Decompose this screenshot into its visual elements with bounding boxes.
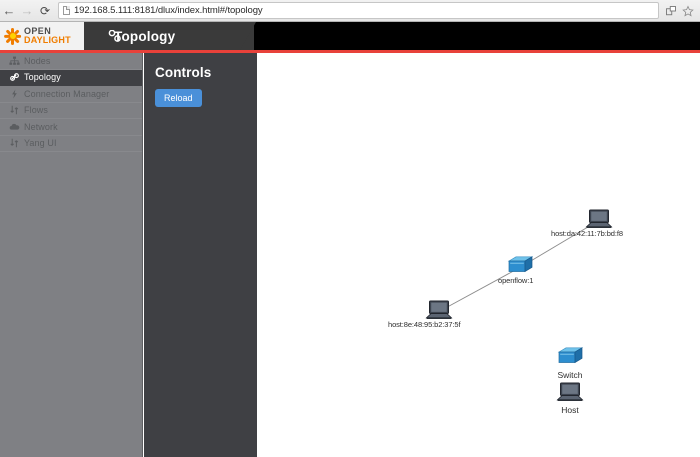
- topology-node-label: host:8e:48:95:b2:37:5f: [388, 320, 460, 329]
- back-arrow-icon[interactable]: ←: [0, 2, 18, 20]
- page-title: Topology: [114, 29, 175, 44]
- topology-node-label: host:da:42:11:7b:bd:f8: [551, 229, 623, 238]
- controls-heading: Controls: [144, 53, 257, 80]
- legend-label-switch: Switch: [540, 370, 600, 380]
- topology-icon: [108, 30, 122, 42]
- reload-button[interactable]: Reload: [155, 89, 202, 107]
- forward-arrow-icon[interactable]: →: [18, 2, 36, 20]
- star-icon[interactable]: [682, 5, 694, 17]
- sidebar-item-label: Topology: [24, 72, 61, 82]
- url-text: 192.168.5.111:8181/dlux/index.html#/topo…: [74, 5, 263, 16]
- legend-host-icon-wrap: [556, 382, 584, 407]
- controls-panel: Controls Reload: [144, 53, 257, 457]
- topology-canvas[interactable]: host:da:42:11:7b:bd:f8 openflow:1 host:8…: [257, 53, 700, 457]
- host-icon: [425, 300, 453, 320]
- title-shear-decoration: [240, 22, 256, 50]
- sidebar-item-topology[interactable]: Topology: [0, 70, 142, 87]
- sidebar-item-label: Flows: [24, 105, 48, 115]
- cloud-icon: [9, 122, 20, 132]
- daylight-sunburst-icon: [4, 28, 21, 45]
- page-document-icon: [63, 6, 70, 15]
- sidebar-item-label: Connection Manager: [24, 89, 109, 99]
- flow-arrow-icon: [9, 105, 20, 115]
- host-icon: [556, 382, 584, 402]
- legend-switch-icon-wrap: [556, 347, 583, 371]
- sidebar-nav: Nodes Topology Connection Manager Flows: [0, 53, 143, 457]
- url-bar[interactable]: 192.168.5.111:8181/dlux/index.html#/topo…: [58, 2, 659, 19]
- sidebar-item-label: Nodes: [24, 56, 51, 66]
- legend-label-host: Host: [540, 405, 600, 415]
- reload-icon[interactable]: ⟳: [36, 2, 54, 20]
- switch-icon: [506, 256, 533, 275]
- sidebar-item-flows[interactable]: Flows: [0, 103, 142, 120]
- sitemap-icon: [9, 56, 20, 66]
- sidebar-item-label: Network: [24, 122, 58, 132]
- flow-arrow-icon: [9, 138, 20, 148]
- sidebar-item-label: Yang UI: [24, 138, 57, 148]
- extension-icon[interactable]: [665, 5, 677, 17]
- browser-chrome: ← → ⟳ 192.168.5.111:8181/dlux/index.html…: [0, 0, 700, 22]
- app-header: OPEN DAYLIGHT Topology: [0, 22, 700, 50]
- host-icon: [585, 209, 613, 229]
- link-icon: [9, 72, 20, 82]
- logo-text-daylight: DAYLIGHT: [24, 36, 71, 45]
- bolt-icon: [9, 89, 20, 99]
- sidebar-item-connection-manager[interactable]: Connection Manager: [0, 86, 142, 103]
- sidebar-item-nodes[interactable]: Nodes: [0, 53, 142, 70]
- sidebar-item-yang-ui[interactable]: Yang UI: [0, 136, 142, 153]
- topology-node-label: openflow:1: [498, 276, 533, 285]
- opendaylight-logo[interactable]: OPEN DAYLIGHT: [0, 22, 84, 50]
- sidebar-item-network[interactable]: Network: [0, 119, 142, 136]
- switch-icon: [556, 347, 583, 366]
- topology-graph: [257, 53, 700, 457]
